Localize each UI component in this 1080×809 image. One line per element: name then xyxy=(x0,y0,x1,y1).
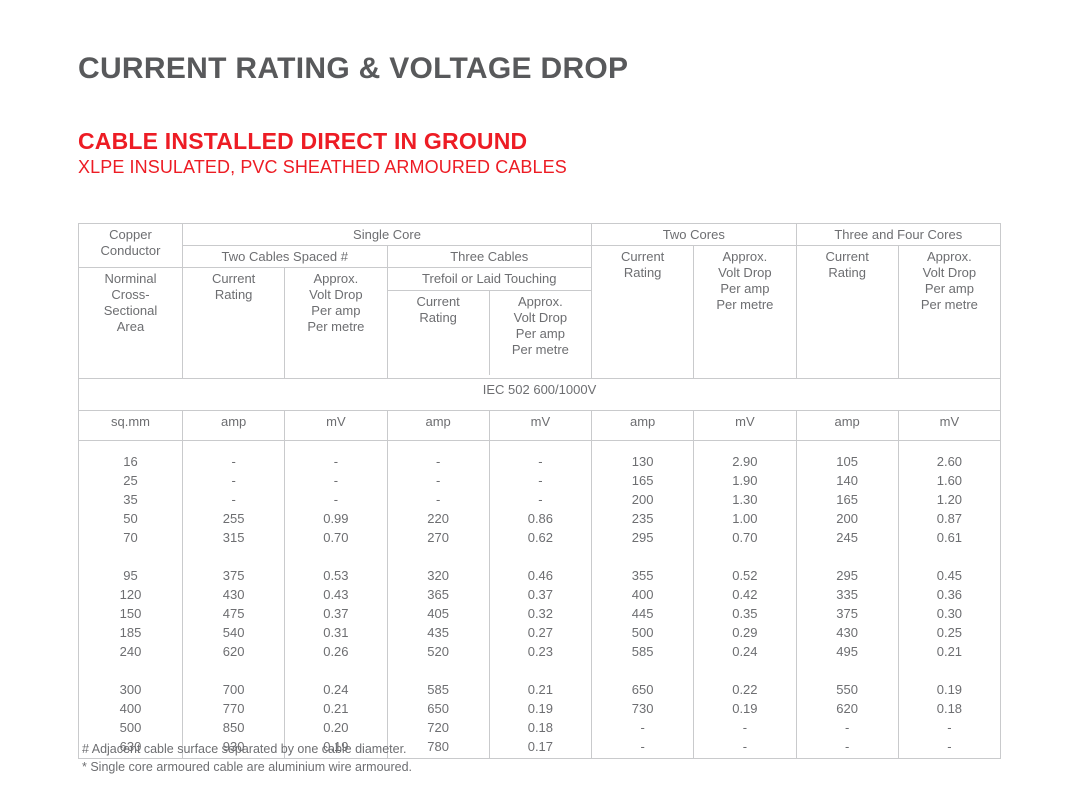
data-cell: 0.87 xyxy=(901,509,998,528)
header-trefoil-group: Trefoil or Laid Touching Current Rating … xyxy=(387,268,592,379)
data-cell: 200 xyxy=(594,490,691,509)
data-cell: 720 xyxy=(390,718,487,737)
data-cell: - xyxy=(492,471,589,490)
data-cell: 255 xyxy=(185,509,282,528)
data-cell: - xyxy=(287,471,384,490)
data-cell: 185 xyxy=(81,623,180,642)
data-cell: 0.19 xyxy=(492,699,589,718)
data-spacer xyxy=(81,547,180,566)
unit-header-4: mV xyxy=(489,411,591,441)
data-cell: 0.22 xyxy=(696,680,793,699)
header-trefoil-leaf-row: Current Rating Approx. Volt Drop Per amp… xyxy=(388,291,592,376)
header-two-cores-current-rating: Current Rating xyxy=(592,246,694,379)
header-three-four-cores-current-rating-label: Current Rating xyxy=(825,249,868,280)
header-two-cores-volt-drop: Approx. Volt Drop Per amp Per metre xyxy=(694,246,796,379)
unit-header-5: amp xyxy=(592,411,694,441)
data-stack-2: ---0.990.700.530.430.370.310.260.240.210… xyxy=(287,444,384,756)
data-column-5: 130165200235295355400445500585650730-- xyxy=(592,441,694,759)
data-stack-8: 2.601.601.200.870.610.450.360.300.250.21… xyxy=(901,444,998,756)
page-root: CURRENT RATING & VOLTAGE DROP CABLE INST… xyxy=(0,0,1080,809)
data-cell: - xyxy=(901,737,998,756)
data-spacer xyxy=(390,547,487,566)
header-trefoil-current-rating-label: Current Rating xyxy=(416,294,459,325)
unit-header-7: amp xyxy=(796,411,898,441)
header-row-standard: IEC 502 600/1000V xyxy=(79,379,1001,411)
data-cell: 0.25 xyxy=(901,623,998,642)
data-cell: 620 xyxy=(185,642,282,661)
header-trefoil-subtable: Trefoil or Laid Touching Current Rating … xyxy=(388,268,592,375)
data-cell: 0.46 xyxy=(492,566,589,585)
data-column-7: 105140165200245295335375430495550620-- xyxy=(796,441,898,759)
header-spaced-volt-drop-label: Approx. Volt Drop Per amp Per metre xyxy=(307,271,364,334)
data-cell: 320 xyxy=(390,566,487,585)
data-cell: 165 xyxy=(594,471,691,490)
data-cell: 295 xyxy=(799,566,896,585)
data-column-1: ---255315375430475540620700770850930 xyxy=(183,441,285,759)
data-cell: 700 xyxy=(185,680,282,699)
data-cell: - xyxy=(287,490,384,509)
header-spaced-current-rating-label: Current Rating xyxy=(212,271,255,302)
data-cell: 200 xyxy=(799,509,896,528)
data-cell: 25 xyxy=(81,471,180,490)
footnotes: # Adjacent cable surface separated by on… xyxy=(82,740,412,776)
data-cell: - xyxy=(901,718,998,737)
data-cell: 620 xyxy=(799,699,896,718)
data-cell: 0.20 xyxy=(287,718,384,737)
header-nominal-area-label: Norminal Cross- Sectional Area xyxy=(104,271,157,334)
page-title: CURRENT RATING & VOLTAGE DROP xyxy=(78,52,628,86)
data-spacer xyxy=(696,661,793,680)
data-cell: 0.26 xyxy=(287,642,384,661)
data-cell: 1.60 xyxy=(901,471,998,490)
data-cell: 375 xyxy=(799,604,896,623)
data-cell: 520 xyxy=(390,642,487,661)
header-copper-conductor: Copper Conductor xyxy=(79,224,183,268)
data-cell: - xyxy=(287,452,384,471)
data-spacer xyxy=(185,661,282,680)
header-row-groups: Copper Conductor Single Core Two Cores T… xyxy=(79,224,1001,246)
data-cell: 0.18 xyxy=(492,718,589,737)
data-cell: 495 xyxy=(799,642,896,661)
header-three-four-cores-current-rating: Current Rating xyxy=(796,246,898,379)
data-cell: 585 xyxy=(594,642,691,661)
data-cell: 0.24 xyxy=(696,642,793,661)
header-two-cores: Two Cores xyxy=(592,224,797,246)
data-cell: 0.62 xyxy=(492,528,589,547)
data-cell: 0.36 xyxy=(901,585,998,604)
header-row-units: sq.mm amp mV amp mV amp mV amp mV xyxy=(79,411,1001,441)
header-spaced-volt-drop: Approx. Volt Drop Per amp Per metre xyxy=(285,268,387,379)
data-cell: 0.23 xyxy=(492,642,589,661)
header-three-four-cores-volt-drop-label: Approx. Volt Drop Per amp Per metre xyxy=(921,249,978,312)
data-cell: 0.30 xyxy=(901,604,998,623)
data-cell: 365 xyxy=(390,585,487,604)
data-cell: 140 xyxy=(799,471,896,490)
header-trefoil-current-rating: Current Rating xyxy=(388,291,490,376)
data-cell: 295 xyxy=(594,528,691,547)
data-column-2: ---0.990.700.530.430.370.310.260.240.210… xyxy=(285,441,387,759)
data-cell: 0.19 xyxy=(901,680,998,699)
data-cell: 0.53 xyxy=(287,566,384,585)
data-cell: 355 xyxy=(594,566,691,585)
data-cell: 245 xyxy=(799,528,896,547)
data-cell: - xyxy=(799,718,896,737)
data-cell: 95 xyxy=(81,566,180,585)
current-rating-table: Copper Conductor Single Core Two Cores T… xyxy=(78,223,1001,759)
data-cell: 1.90 xyxy=(696,471,793,490)
data-spacer xyxy=(390,661,487,680)
data-cell: 1.00 xyxy=(696,509,793,528)
data-cell: 220 xyxy=(390,509,487,528)
data-spacer xyxy=(696,547,793,566)
data-cell: 315 xyxy=(185,528,282,547)
data-cell: - xyxy=(390,471,487,490)
data-spacer xyxy=(492,661,589,680)
data-spacer xyxy=(799,547,896,566)
data-cell: 0.42 xyxy=(696,585,793,604)
data-spacer xyxy=(492,547,589,566)
data-stack-1: ---255315375430475540620700770850930 xyxy=(185,444,282,756)
header-copper-conductor-label: Copper Conductor xyxy=(101,227,161,258)
data-cell: 445 xyxy=(594,604,691,623)
data-cell: - xyxy=(390,452,487,471)
header-three-cables: Three Cables xyxy=(387,246,592,268)
data-cell: 0.18 xyxy=(901,699,998,718)
data-cell: 0.19 xyxy=(696,699,793,718)
data-spacer xyxy=(799,661,896,680)
data-cell: - xyxy=(594,737,691,756)
data-cell: 0.17 xyxy=(492,737,589,756)
data-cell: 650 xyxy=(594,680,691,699)
data-stack-5: 130165200235295355400445500585650730-- xyxy=(594,444,691,756)
data-cell: - xyxy=(185,452,282,471)
data-cell: 430 xyxy=(799,623,896,642)
data-cell: 0.29 xyxy=(696,623,793,642)
data-cell: 0.24 xyxy=(287,680,384,699)
data-cell: 0.45 xyxy=(901,566,998,585)
data-cell: 0.21 xyxy=(287,699,384,718)
data-cell: 70 xyxy=(81,528,180,547)
data-cell: 0.70 xyxy=(696,528,793,547)
header-trefoil-label: Trefoil or Laid Touching xyxy=(388,268,592,291)
data-spacer xyxy=(287,547,384,566)
data-cell: 500 xyxy=(81,718,180,737)
data-cell: 2.90 xyxy=(696,452,793,471)
data-cell: 0.61 xyxy=(901,528,998,547)
rating-table-container: Copper Conductor Single Core Two Cores T… xyxy=(78,223,1000,759)
data-stack-4: ---0.860.620.460.370.320.270.230.210.190… xyxy=(492,444,589,756)
data-cell: 540 xyxy=(185,623,282,642)
data-spacer xyxy=(81,661,180,680)
data-cell: - xyxy=(492,490,589,509)
data-body-row: 162535507095120150185240300400500630 ---… xyxy=(79,441,1001,759)
section-title: CABLE INSTALLED DIRECT IN GROUND xyxy=(78,128,527,155)
header-trefoil-volt-drop-label: Approx. Volt Drop Per amp Per metre xyxy=(512,294,569,357)
data-cell: 235 xyxy=(594,509,691,528)
data-stack-3: ---220270320365405435520585650720780 xyxy=(390,444,487,756)
data-cell: - xyxy=(390,490,487,509)
data-cell: 585 xyxy=(390,680,487,699)
data-cell: 850 xyxy=(185,718,282,737)
data-cell: - xyxy=(185,490,282,509)
data-cell: 0.43 xyxy=(287,585,384,604)
section-subtitle: XLPE INSULATED, PVC SHEATHED ARMOURED CA… xyxy=(78,157,567,178)
data-cell: 2.60 xyxy=(901,452,998,471)
data-spacer xyxy=(287,661,384,680)
data-cell: - xyxy=(185,471,282,490)
header-two-cores-current-rating-label: Current Rating xyxy=(621,249,664,280)
unit-header-0: sq.mm xyxy=(79,411,183,441)
data-cell: 35 xyxy=(81,490,180,509)
header-two-cores-volt-drop-label: Approx. Volt Drop Per amp Per metre xyxy=(716,249,773,312)
data-cell: 650 xyxy=(390,699,487,718)
data-column-4: ---0.860.620.460.370.320.270.230.210.190… xyxy=(489,441,591,759)
data-stack-0: 162535507095120150185240300400500630 xyxy=(81,444,180,756)
footnote-hash: # Adjacent cable surface separated by on… xyxy=(82,740,412,758)
data-cell: 105 xyxy=(799,452,896,471)
data-cell: 0.32 xyxy=(492,604,589,623)
data-cell: - xyxy=(492,452,589,471)
data-spacer xyxy=(901,661,998,680)
header-single-core: Single Core xyxy=(183,224,592,246)
data-spacer xyxy=(594,661,691,680)
header-nominal-area: Norminal Cross- Sectional Area xyxy=(79,268,183,379)
data-stack-6: 2.901.901.301.000.700.520.420.350.290.24… xyxy=(696,444,793,756)
data-cell: 270 xyxy=(390,528,487,547)
unit-header-8: mV xyxy=(898,411,1000,441)
data-cell: 240 xyxy=(81,642,180,661)
header-trefoil-volt-drop: Approx. Volt Drop Per amp Per metre xyxy=(489,291,591,376)
data-cell: 120 xyxy=(81,585,180,604)
data-column-3: ---220270320365405435520585650720780 xyxy=(387,441,489,759)
data-cell: 475 xyxy=(185,604,282,623)
data-cell: 0.86 xyxy=(492,509,589,528)
data-cell: 0.27 xyxy=(492,623,589,642)
data-cell: 435 xyxy=(390,623,487,642)
data-spacer xyxy=(185,547,282,566)
data-cell: 0.70 xyxy=(287,528,384,547)
header-standard-label: IEC 502 600/1000V xyxy=(79,379,1001,411)
data-cell: 550 xyxy=(799,680,896,699)
footnote-asterisk: * Single core armoured cable are alumini… xyxy=(82,758,412,776)
data-cell: 0.21 xyxy=(901,642,998,661)
data-cell: 150 xyxy=(81,604,180,623)
data-cell: 500 xyxy=(594,623,691,642)
header-two-cables-spaced: Two Cables Spaced # xyxy=(183,246,388,268)
unit-header-6: mV xyxy=(694,411,796,441)
data-cell: 0.37 xyxy=(287,604,384,623)
data-cell: - xyxy=(696,737,793,756)
header-three-and-four-cores: Three and Four Cores xyxy=(796,224,1001,246)
data-cell: - xyxy=(799,737,896,756)
data-cell: 0.31 xyxy=(287,623,384,642)
data-cell: 405 xyxy=(390,604,487,623)
data-cell: 0.37 xyxy=(492,585,589,604)
data-cell: 400 xyxy=(594,585,691,604)
data-cell: 335 xyxy=(799,585,896,604)
unit-header-1: amp xyxy=(183,411,285,441)
data-stack-7: 105140165200245295335375430495550620-- xyxy=(799,444,896,756)
header-row-subgroups: Two Cables Spaced # Three Cables Current… xyxy=(79,246,1001,268)
data-cell: 300 xyxy=(81,680,180,699)
data-cell: 770 xyxy=(185,699,282,718)
data-spacer xyxy=(901,547,998,566)
data-cell: 0.99 xyxy=(287,509,384,528)
data-spacer xyxy=(594,547,691,566)
data-cell: 50 xyxy=(81,509,180,528)
data-cell: 1.30 xyxy=(696,490,793,509)
data-cell: 130 xyxy=(594,452,691,471)
data-cell: 1.20 xyxy=(901,490,998,509)
data-cell: 0.35 xyxy=(696,604,793,623)
data-column-0: 162535507095120150185240300400500630 xyxy=(79,441,183,759)
data-cell: 0.21 xyxy=(492,680,589,699)
data-cell: - xyxy=(594,718,691,737)
data-cell: 400 xyxy=(81,699,180,718)
data-cell: 375 xyxy=(185,566,282,585)
data-column-6: 2.901.901.301.000.700.520.420.350.290.24… xyxy=(694,441,796,759)
data-cell: - xyxy=(696,718,793,737)
data-cell: 16 xyxy=(81,452,180,471)
header-three-four-cores-volt-drop: Approx. Volt Drop Per amp Per metre xyxy=(898,246,1000,379)
data-cell: 165 xyxy=(799,490,896,509)
data-cell: 730 xyxy=(594,699,691,718)
header-spaced-current-rating: Current Rating xyxy=(183,268,285,379)
header-trefoil-title-row: Trefoil or Laid Touching xyxy=(388,268,592,291)
unit-header-2: mV xyxy=(285,411,387,441)
data-column-8: 2.601.601.200.870.610.450.360.300.250.21… xyxy=(898,441,1000,759)
unit-header-3: amp xyxy=(387,411,489,441)
data-cell: 0.52 xyxy=(696,566,793,585)
data-cell: 430 xyxy=(185,585,282,604)
